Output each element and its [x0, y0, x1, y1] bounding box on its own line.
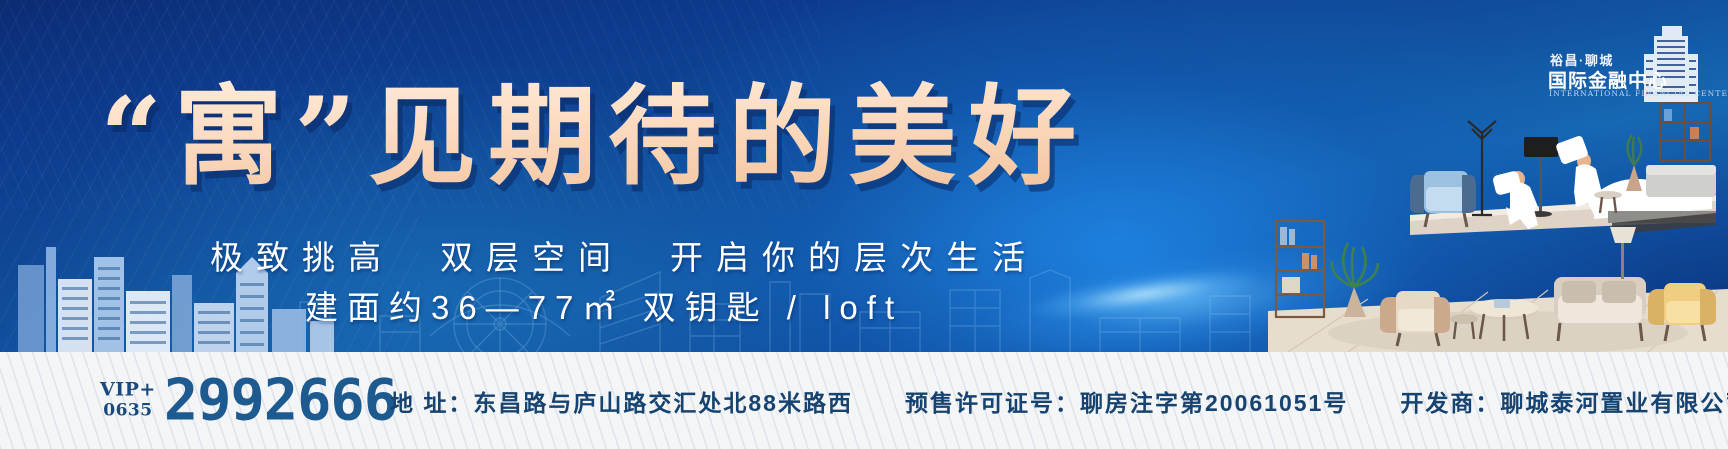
project-logo: 裕昌·聊城 国际金融中心 INTERNATIONAL FINANCIAL CEN… [1540, 24, 1720, 108]
logo-line-english: INTERNATIONAL FINANCIAL CENTER [1549, 89, 1728, 98]
area-code-label: 0635 [103, 402, 152, 422]
phone-number[interactable]: 2992666 [164, 372, 397, 429]
contact-phone-block[interactable]: VIP+ 0635 2992666 [100, 372, 397, 429]
upper-loft-room-illustration [1398, 95, 1718, 235]
footer-item-developer: 开发商：聊城泰河置业有限公司 [1400, 384, 1728, 418]
page-title: “寓”见期待的美好 [100, 70, 1190, 185]
real-estate-banner: “寓”见期待的美好 极致挑高 双层空间 开启你的层次生活 建面约36—77㎡ 双… [0, 0, 1728, 449]
unit-type-text: 双钥匙 / loft [643, 289, 904, 326]
footer-info-bar: VIP+ 0635 2992666 地 址：东昌路与庐山路交汇处北88米路西 预… [0, 352, 1728, 449]
footer-detail-list: 地 址：东昌路与庐山路交汇处北88米路西 预售许可证号：聊房注字第2006105… [390, 384, 1728, 418]
area-unit-text: ㎡ [582, 289, 624, 326]
area-range-text: 建面约36—77 [305, 289, 582, 326]
vip-label: VIP+ [100, 380, 156, 402]
subtitle-features: 极致挑高 双层空间 开启你的层次生活 [210, 231, 1038, 279]
footer-item-presale-permit: 预售许可证号：聊房注字第20061051号 [905, 384, 1348, 418]
footer-item-address: 地 址：东昌路与庐山路交汇处北88米路西 [390, 384, 853, 418]
banner-artwork-background: “寓”见期待的美好 极致挑高 双层空间 开启你的层次生活 建面约36—77㎡ 双… [0, 0, 1728, 352]
living-room-illustration [1258, 215, 1728, 352]
vip-prefix: VIP+ 0635 [100, 380, 156, 421]
subtitle-area-spec: 建面约36—77㎡ 双钥匙 / loft [305, 281, 903, 329]
